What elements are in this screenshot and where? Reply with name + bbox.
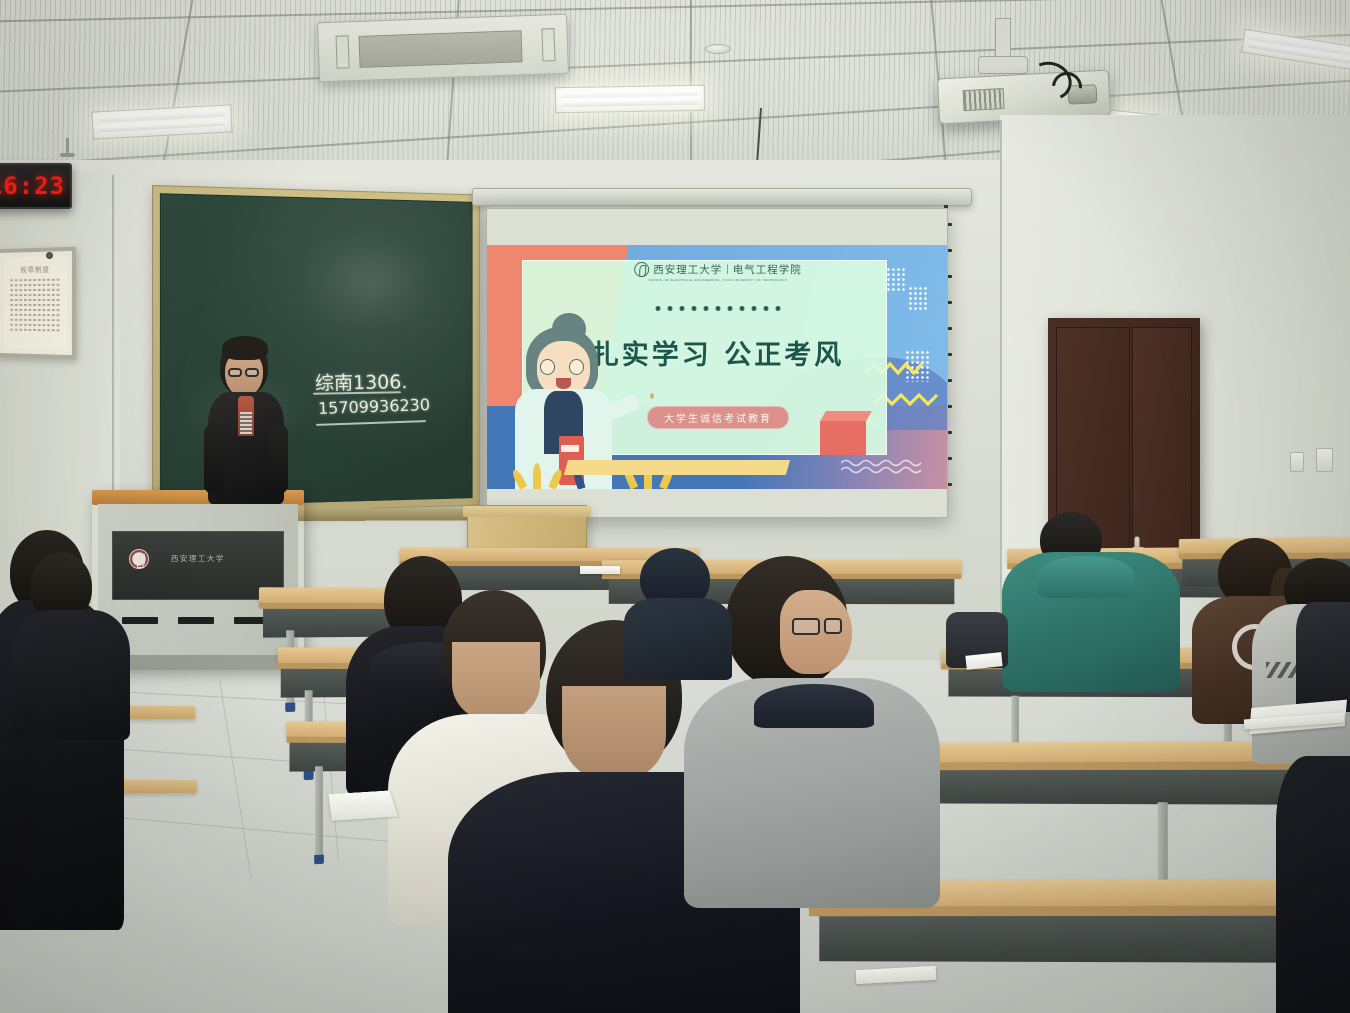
slide-logo-divider: |	[726, 264, 729, 275]
slide-dot-grid	[908, 286, 928, 310]
projection-screen: 西安理工大学 | 电气工程学院 SCHOOL OF ELECTRICAL ENG…	[486, 208, 948, 518]
student	[1300, 560, 1350, 690]
smoke-detector-icon	[705, 44, 731, 54]
student-jacket	[624, 598, 732, 680]
presenter	[186, 338, 304, 508]
student-jacket	[12, 610, 130, 740]
student-neck	[562, 686, 666, 782]
slide-title: 扎实学习 公正考风	[592, 333, 844, 372]
university-emblem-icon	[129, 549, 149, 569]
slide-logo: 西安理工大学 | 电气工程学院	[634, 262, 802, 277]
slide-dot-divider	[656, 306, 781, 311]
lectern-desktop	[463, 506, 590, 517]
student	[1008, 512, 1178, 682]
wall-poster-frame: 规章制度	[0, 247, 76, 360]
presenter-arm-left	[204, 424, 224, 494]
university-emblem-icon	[634, 262, 649, 277]
presenter-hair-front	[222, 336, 268, 360]
poster-hook-icon	[46, 252, 53, 259]
illustration-glasses-icon	[540, 359, 555, 375]
podium-university-name: 西安理工大学	[171, 553, 225, 564]
clock-time-display: 5:16:23	[0, 172, 65, 200]
slide-desk-shape	[563, 460, 789, 475]
slide-wave-accent	[841, 457, 931, 477]
projection-screen-housing	[472, 188, 972, 206]
ceiling-air-conditioner	[317, 14, 569, 83]
jacket-hood	[1038, 556, 1134, 598]
light-switch-plate[interactable]	[1316, 448, 1333, 472]
podium-vent-slot	[122, 617, 158, 624]
paper-sheet	[580, 566, 620, 574]
student-jacket	[1296, 602, 1350, 712]
student-glasses-icon	[824, 618, 842, 634]
presentation-slide: 西安理工大学 | 电气工程学院 SCHOOL OF ELECTRICAL ENG…	[487, 245, 948, 489]
student	[22, 552, 118, 732]
presenter-glasses-icon	[228, 368, 242, 377]
poster-heading: 规章制度	[9, 264, 63, 275]
illustration-mouth	[556, 378, 571, 389]
light-switch-plate[interactable]	[1290, 452, 1304, 472]
ceiling-light-panel	[555, 85, 705, 114]
podium-vent-slot	[178, 617, 214, 624]
blackboard-text-line-2: 15709936230	[318, 395, 431, 418]
illustration-pointer-stick	[650, 393, 653, 398]
projector-mount-plate	[978, 56, 1028, 74]
sprinkler-head-icon	[66, 138, 69, 154]
podium-front-panel: 西安理工大学	[112, 531, 283, 601]
wall-digital-clock: 5:16:23	[0, 163, 72, 209]
slide-box-shape	[820, 421, 866, 455]
presenter-arm-right	[268, 424, 288, 494]
student-jacket	[1276, 756, 1350, 1013]
student-glasses-icon	[792, 618, 820, 635]
paper-sheet	[328, 790, 398, 821]
slide-plant-leaf	[533, 463, 541, 489]
student	[1276, 756, 1350, 1013]
slide-logo-department: 电气工程学院	[733, 262, 802, 277]
slide-logo-university: 西安理工大学	[653, 262, 722, 277]
ac-vent-grille	[358, 30, 523, 68]
wall-poster-content: 规章制度	[4, 256, 67, 350]
slide-subtitle-badge: 大学生诚信考试教育	[647, 406, 789, 429]
presenter-shirt-stripes	[240, 412, 252, 434]
ac-side-slot	[336, 35, 350, 69]
classroom-photo: 5:16:23 规章制度 综南1306. 15709936230	[0, 0, 1350, 1013]
ac-side-slot	[542, 28, 556, 62]
illustration-glasses-icon	[569, 359, 584, 375]
presenter-glasses-icon	[245, 368, 259, 377]
projector-air-grille	[962, 88, 1004, 110]
student	[628, 548, 738, 668]
hoodie-collar	[754, 684, 874, 728]
slide-logo-english: SCHOOL OF ELECTRICAL ENGINEERING, XI'AN …	[648, 278, 787, 282]
